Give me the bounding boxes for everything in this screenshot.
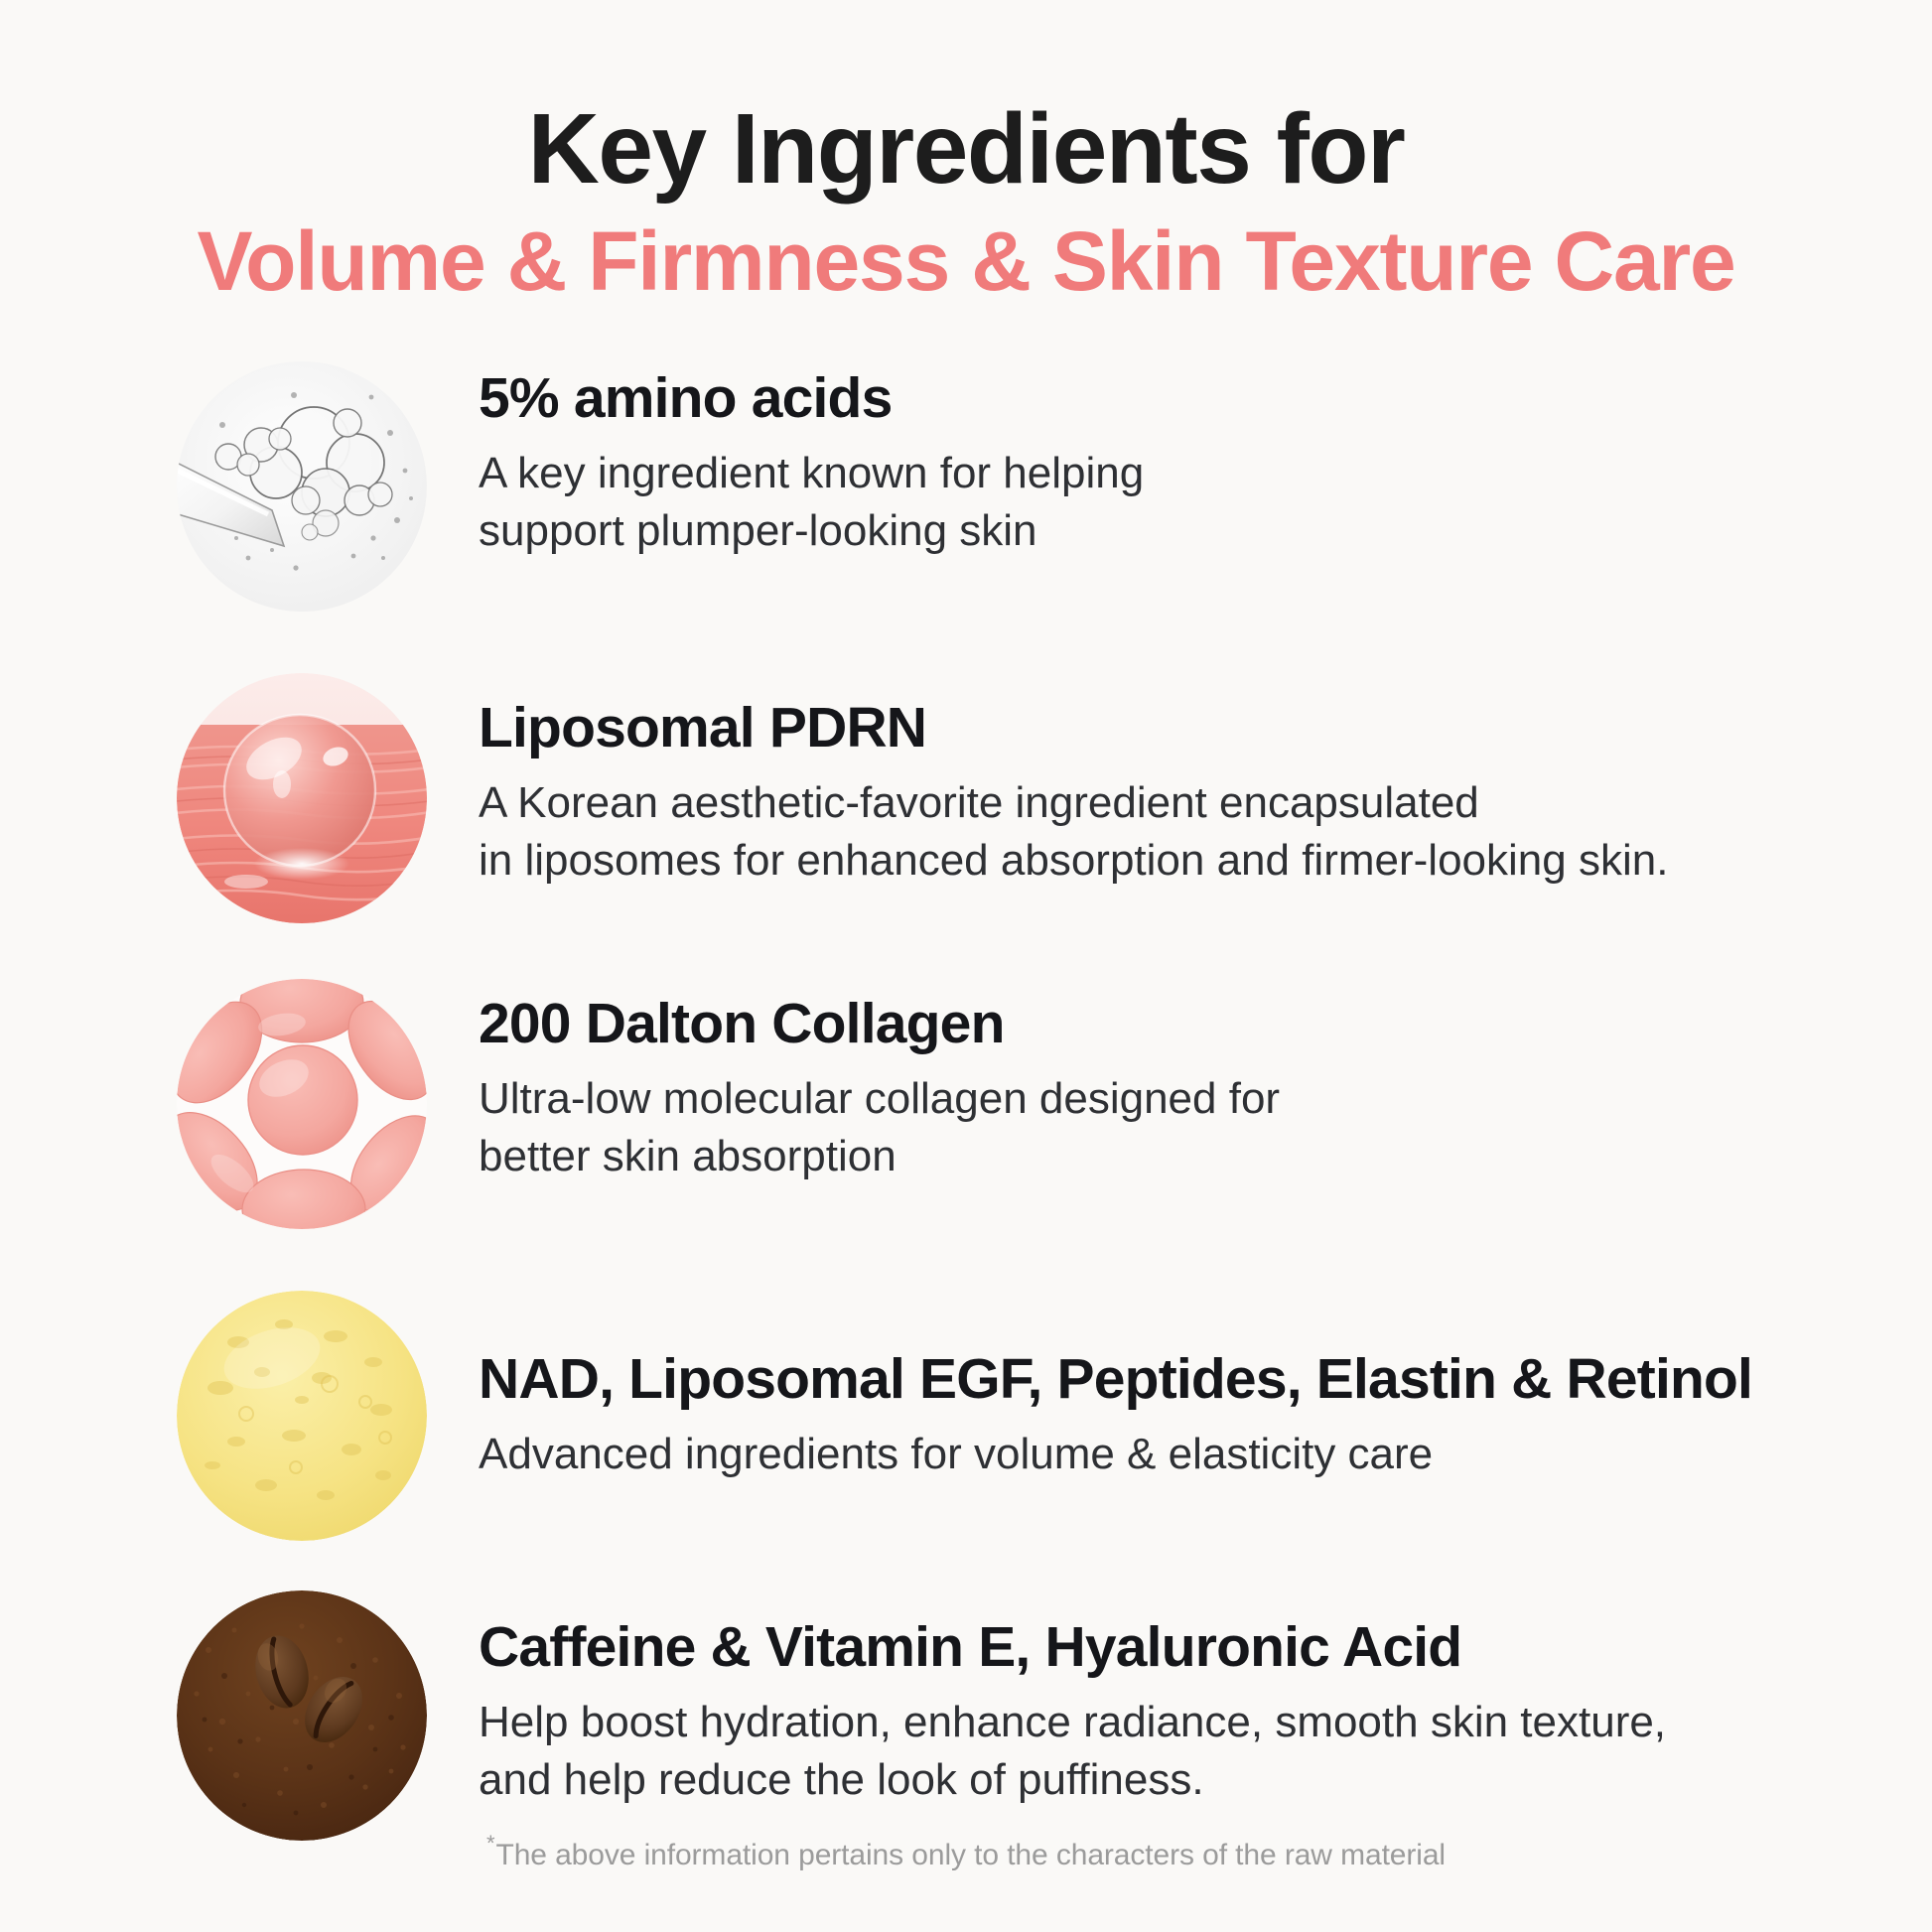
ingredient-title: NAD, Liposomal EGF, Peptides, Elastin & … [479,1348,1752,1412]
ingredient-description: Ultra-low molecular collagen designed fo… [479,1070,1280,1186]
ingredient-list: 5% amino acids A key ingredient known fo… [0,361,1932,1841]
list-item: 5% amino acids A key ingredient known fo… [177,361,1872,612]
ingredient-description: A key ingredient known for helping suppo… [479,445,1144,561]
description-line: A Korean aesthetic-favorite ingredient e… [479,774,1668,833]
clear-gel-bubbles-icon [177,361,427,612]
list-item: 200 Dalton Collagen Ultra-low molecular … [177,979,1872,1229]
list-item: NAD, Liposomal EGF, Peptides, Elastin & … [177,1291,1872,1541]
yellow-powder-disc-icon [177,1291,427,1541]
list-item-text: Caffeine & Vitamin E, Hyaluronic Acid He… [427,1590,1666,1810]
list-item: Caffeine & Vitamin E, Hyaluronic Acid He… [177,1590,1872,1841]
footnote-marker: * [486,1831,494,1856]
ingredients-poster: Key Ingredients for Volume & Firmness & … [0,0,1932,1932]
description-line: support plumper-looking skin [479,502,1144,561]
footnote: *The above information pertains only to … [0,1831,1932,1872]
ingredient-title: 200 Dalton Collagen [479,993,1280,1056]
ingredient-description: Help boost hydration, enhance radiance, … [479,1694,1666,1810]
page-title-line2: Volume & Firmness & Skin Texture Care [0,214,1932,308]
list-item: Liposomal PDRN A Korean aesthetic-favori… [177,673,1872,923]
description-line: Help boost hydration, enhance radiance, … [479,1694,1666,1752]
list-item-text: 200 Dalton Collagen Ultra-low molecular … [427,979,1280,1186]
coffee-grounds-beans-icon [177,1590,427,1841]
page-title-line1: Key Ingredients for [0,95,1932,203]
list-item-text: Liposomal PDRN A Korean aesthetic-favori… [427,673,1668,891]
description-line: better skin absorption [479,1128,1280,1186]
list-item-text: 5% amino acids A key ingredient known fo… [427,361,1144,561]
pink-glass-sphere-on-water-icon [177,673,427,923]
footnote-text: The above information pertains only to t… [495,1839,1446,1871]
description-line: Advanced ingredients for volume & elasti… [479,1426,1752,1484]
ingredient-title: 5% amino acids [479,367,1144,431]
description-line: in liposomes for enhanced absorption and… [479,832,1668,891]
list-item-text: NAD, Liposomal EGF, Peptides, Elastin & … [427,1291,1752,1483]
description-line: Ultra-low molecular collagen designed fo… [479,1070,1280,1129]
ingredient-description: Advanced ingredients for volume & elasti… [479,1426,1752,1484]
description-line: and help reduce the look of puffiness. [479,1751,1666,1810]
pink-collagen-capsules-icon [177,979,427,1229]
poster-header: Key Ingredients for Volume & Firmness & … [0,0,1932,308]
description-line: A key ingredient known for helping [479,445,1144,503]
ingredient-title: Caffeine & Vitamin E, Hyaluronic Acid [479,1616,1666,1680]
ingredient-description: A Korean aesthetic-favorite ingredient e… [479,774,1668,891]
ingredient-title: Liposomal PDRN [479,697,1668,760]
